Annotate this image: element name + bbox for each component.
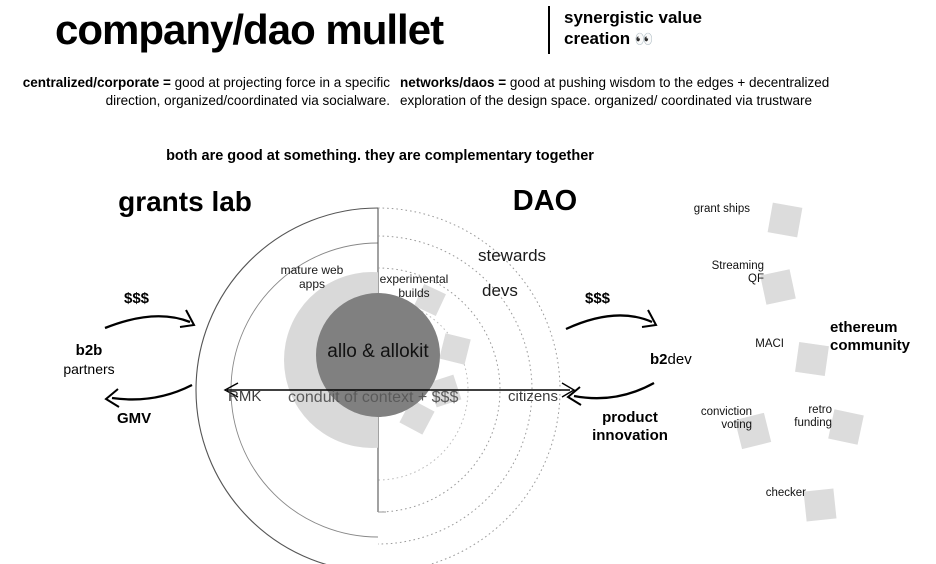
flow-money-left: $$$ xyxy=(124,290,149,307)
flow-b2dev-rest: dev xyxy=(668,351,692,368)
flow-b2b-partners: b2b partners xyxy=(34,341,144,378)
ethereum-community-line-1: ethereum xyxy=(830,319,898,336)
subtitle-line-1: synergistic value xyxy=(564,8,702,27)
definition-centralized-term: centralized/corporate = xyxy=(23,75,171,90)
eyes-icon: 👀 xyxy=(635,31,654,48)
flow-b2dev-lead: b2 xyxy=(650,351,668,368)
sticky-label-maci: MACI xyxy=(714,338,784,351)
sticky-label-grant-ships: grant ships xyxy=(660,203,750,216)
definition-centralized: centralized/corporate = good at projecti… xyxy=(22,74,390,110)
ethereum-community-title: ethereum community xyxy=(830,319,936,355)
sticky-label-streaming-qf: Streaming QF xyxy=(668,260,764,286)
flow-gmv: GMV xyxy=(117,410,151,427)
label-devs: devs xyxy=(482,284,552,298)
sticky-label-retro-funding: retro funding xyxy=(746,404,832,430)
subtitle-line-2: creation xyxy=(564,29,630,48)
label-experimental-builds: experimental builds xyxy=(371,272,457,300)
definition-networks: networks/daos = good at pushing wisdom t… xyxy=(400,74,870,110)
definition-networks-term: networks/daos = xyxy=(400,75,506,90)
flow-money-right: $$$ xyxy=(585,290,610,307)
label-stewards: stewards xyxy=(478,249,568,263)
page-subtitle: synergistic value creation 👀 xyxy=(564,7,764,50)
flow-b2b-rest: partners xyxy=(63,361,114,377)
flow-b2dev: b2dev xyxy=(650,351,692,368)
label-mature-web-apps: mature web apps xyxy=(272,263,352,291)
left-flow-arrow-top xyxy=(105,310,194,328)
heading-grants-lab: grants lab xyxy=(60,186,310,218)
sticky-label-checker: checker xyxy=(700,487,806,500)
page-title: company/dao mullet xyxy=(55,6,443,54)
tagline: both are good at something. they are com… xyxy=(60,148,700,164)
flow-b2b-lead: b2b xyxy=(76,342,103,359)
right-flow-arrow-top xyxy=(566,310,656,329)
title-divider xyxy=(548,6,550,54)
label-conduit-of-context: conduit of context + $$$ xyxy=(288,389,458,407)
sticky-label-conviction-voting: conviction voting xyxy=(636,406,752,432)
heading-dao: DAO xyxy=(455,185,635,218)
left-flow-arrow-bottom xyxy=(106,385,192,407)
label-citizens: citizens xyxy=(508,390,588,404)
label-allo-allokit: allo & allokit xyxy=(303,341,453,363)
ethereum-community-line-2: community xyxy=(830,337,910,354)
community-sticky-squares xyxy=(735,203,864,522)
